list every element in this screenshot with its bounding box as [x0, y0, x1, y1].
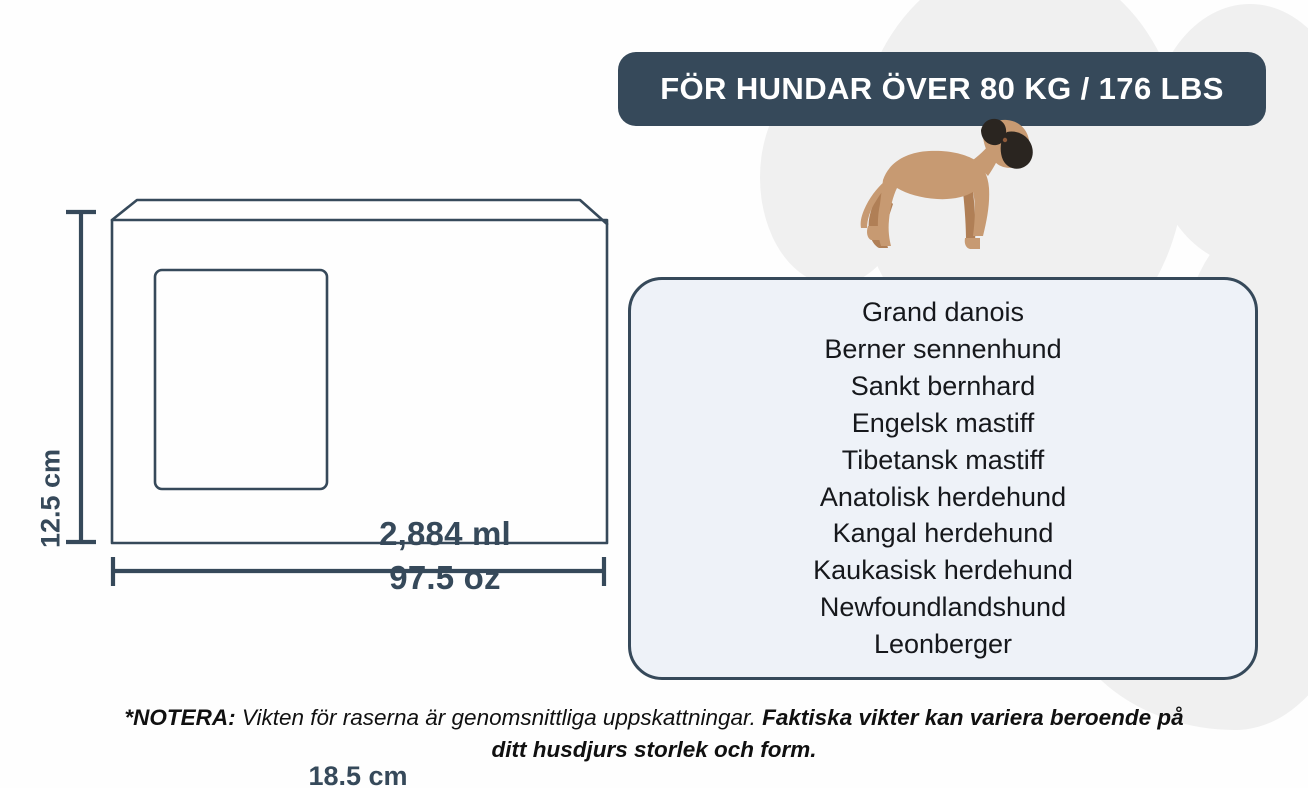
footnote-prefix: *NOTERA: — [124, 705, 235, 730]
box-front-face — [112, 220, 607, 543]
package-dimension-diagram: 2,884 ml 97.5 oz 12.5 cm 18.5 cm — [0, 180, 640, 630]
page-title: FÖR HUNDAR ÖVER 80 KG / 176 LBS — [660, 71, 1224, 107]
height-dimension-line — [66, 212, 96, 542]
breed-list: Grand danois Berner sennenhund Sankt ber… — [813, 294, 1073, 662]
box-label-window — [155, 270, 327, 489]
list-item: Sankt bernhard — [813, 368, 1073, 405]
list-item: Kangal herdehund — [813, 515, 1073, 552]
footnote-disclaimer: *NOTERA: Vikten för raserna är genomsnit… — [104, 702, 1204, 765]
list-item: Tibetansk mastiff — [813, 442, 1073, 479]
volume-milliliters: 2,884 ml — [300, 512, 590, 556]
list-item: Leonberger — [813, 626, 1073, 663]
list-item: Berner sennenhund — [813, 331, 1073, 368]
list-item: Engelsk mastiff — [813, 405, 1073, 442]
volume-capacity-label: 2,884 ml 97.5 oz — [300, 512, 590, 599]
list-item: Anatolisk herdehund — [813, 479, 1073, 516]
volume-ounces: 97.5 oz — [300, 556, 590, 600]
infographic-page: FÖR HUNDAR ÖVER 80 KG / 176 LBS — [0, 0, 1308, 788]
list-item: Grand danois — [813, 294, 1073, 331]
header-banner: FÖR HUNDAR ÖVER 80 KG / 176 LBS — [618, 52, 1266, 126]
list-item: Newfoundlandshund — [813, 589, 1073, 626]
paw-print-toe-right-watermark — [1150, 4, 1308, 266]
box-height-label: 12.5 cm — [36, 439, 67, 559]
breed-list-card: Grand danois Berner sennenhund Sankt ber… — [628, 277, 1258, 680]
box-width-label: 18.5 cm — [188, 761, 528, 788]
footnote-middle: Vikten för raserna är genomsnittliga upp… — [236, 705, 763, 730]
great-dane-dog-icon — [855, 118, 1035, 268]
list-item: Kaukasisk herdehund — [813, 552, 1073, 589]
